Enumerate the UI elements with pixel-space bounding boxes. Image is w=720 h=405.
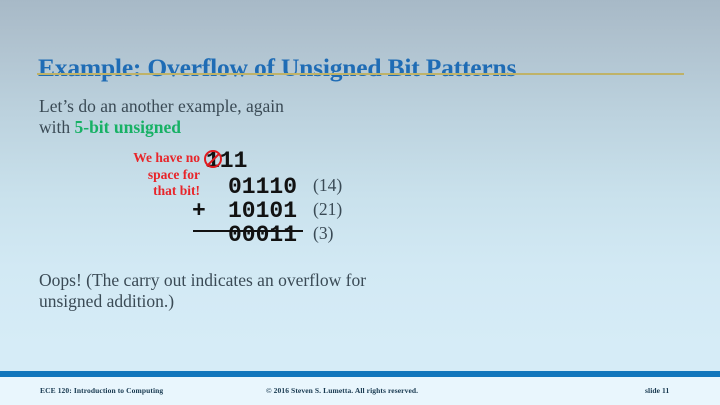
sum-decimal: (3) xyxy=(313,223,333,244)
operand-1-decimal: (14) xyxy=(313,175,342,196)
footer-course-label: ECE 120: Introduction to Computing xyxy=(40,386,163,395)
sum-digits: 00011 xyxy=(228,222,297,248)
operand-1-digits: 01110 xyxy=(228,174,297,200)
intro-line-1: Let’s do an another example, again xyxy=(39,96,284,116)
slide-canvas: Example: Overflow of Unsigned Bit Patter… xyxy=(0,0,720,405)
binary-addition-block: 111 01110 (14) + 10101 (21) 00011 (3) xyxy=(178,148,378,246)
outro-line-1: Oops! (The carry out indicates an overfl… xyxy=(39,270,366,290)
outro-line-2: unsigned addition.) xyxy=(39,291,174,311)
operand-2-decimal: (21) xyxy=(313,199,342,220)
page-title: Example: Overflow of Unsigned Bit Patter… xyxy=(38,53,688,83)
outro-paragraph: Oops! (The carry out indicates an overfl… xyxy=(39,270,519,312)
carry-row: 111 xyxy=(178,148,378,174)
intro-highlight: 5-bit unsigned xyxy=(75,117,182,137)
footer-copyright-label: © 2016 Steven S. Lumetta. All rights res… xyxy=(266,386,418,395)
intro-line-2-prefix: with xyxy=(39,117,75,137)
operand-row-2: + 10101 (21) xyxy=(178,198,378,222)
operand-row-1: 01110 (14) xyxy=(178,174,378,198)
intro-paragraph: Let’s do an another example, again with … xyxy=(39,96,459,138)
operand-2-digits: 10101 xyxy=(228,198,297,224)
sum-row: 00011 (3) xyxy=(178,222,378,246)
operand-2-operator: + xyxy=(192,198,206,224)
footer-slide-number: slide 11 xyxy=(645,386,669,395)
title-divider xyxy=(37,73,684,75)
no-entry-icon xyxy=(204,150,222,168)
